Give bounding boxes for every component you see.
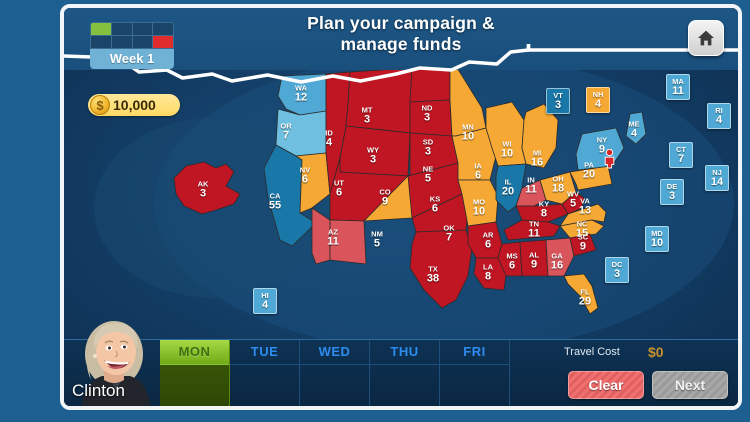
box-state-de[interactable]: DE3 xyxy=(660,179,684,205)
state-electoral-votes: 4 xyxy=(262,300,268,311)
box-state-ri[interactable]: RI4 xyxy=(707,103,731,129)
next-button[interactable]: Next xyxy=(652,371,728,399)
game-frame: WA12OR7CA55NV6ID4MT3WY3UT6CO9AZ11NM5ND3S… xyxy=(60,4,742,410)
bottom-bar: MONTUEWEDTHUFRI Travel Cost $0 Clear Nex… xyxy=(64,339,738,406)
state-nm[interactable] xyxy=(330,220,366,264)
box-state-hi[interactable]: HI4 xyxy=(253,288,277,314)
state-nd[interactable] xyxy=(410,68,450,102)
travel-cost: Travel Cost $0 xyxy=(560,340,730,364)
day-column-wed[interactable]: WED xyxy=(300,340,370,406)
home-button[interactable] xyxy=(688,20,724,56)
week-widget[interactable]: Week 1 xyxy=(90,22,174,69)
day-label-mon[interactable]: MON xyxy=(160,340,229,365)
funds-amount: 10,000 xyxy=(113,97,156,113)
state-electoral-votes: 7 xyxy=(678,154,684,165)
box-state-md[interactable]: MD10 xyxy=(645,226,669,252)
candidate-name: Clinton xyxy=(72,381,125,401)
travel-cost-value: $0 xyxy=(648,340,664,364)
day-slot-thu[interactable] xyxy=(370,365,439,406)
week-cell-7 xyxy=(133,36,153,48)
state-electoral-votes: 10 xyxy=(651,238,663,249)
week-grid xyxy=(90,22,174,49)
coin-icon: $ xyxy=(90,95,110,115)
day-slot-mon[interactable] xyxy=(160,365,229,406)
clear-button[interactable]: Clear xyxy=(568,371,644,399)
state-electoral-votes: 3 xyxy=(669,191,675,202)
state-ar[interactable] xyxy=(468,222,502,258)
state-electoral-votes: 4 xyxy=(716,115,722,126)
box-state-ct[interactable]: CT7 xyxy=(669,142,693,168)
day-column-mon[interactable]: MON xyxy=(160,340,230,406)
home-icon xyxy=(697,29,715,47)
day-label-fri[interactable]: FRI xyxy=(440,340,509,365)
week-cell-1 xyxy=(91,23,111,35)
day-slot-tue[interactable] xyxy=(230,365,299,406)
state-wy[interactable] xyxy=(340,126,410,176)
state-electoral-votes: 11 xyxy=(672,86,684,97)
week-cell-3 xyxy=(133,23,153,35)
box-state-nj[interactable]: NJ14 xyxy=(705,165,729,191)
state-electoral-votes: 3 xyxy=(555,100,561,111)
box-state-ma[interactable]: MA11 xyxy=(666,74,690,100)
candidate-portrait[interactable]: Clinton xyxy=(64,314,160,406)
week-cell-4 xyxy=(153,23,173,35)
week-cell-2 xyxy=(112,23,132,35)
state-mt[interactable] xyxy=(346,68,412,133)
day-label-wed[interactable]: WED xyxy=(300,340,369,365)
state-electoral-votes: 4 xyxy=(595,99,601,110)
funds-display: $ 10,000 xyxy=(88,94,180,116)
game-screen: WA12OR7CA55NV6ID4MT3WY3UT6CO9AZ11NM5ND3S… xyxy=(0,0,750,422)
state-sd[interactable] xyxy=(410,100,452,136)
day-column-thu[interactable]: THU xyxy=(370,340,440,406)
state-electoral-votes: 3 xyxy=(614,269,620,280)
day-slot-fri[interactable] xyxy=(440,365,509,406)
day-column-tue[interactable]: TUE xyxy=(230,340,300,406)
week-label: Week 1 xyxy=(90,49,174,69)
day-slot-wed[interactable] xyxy=(300,365,369,406)
day-label-tue[interactable]: TUE xyxy=(230,340,299,365)
game-background: WA12OR7CA55NV6ID4MT3WY3UT6CO9AZ11NM5ND3S… xyxy=(64,8,738,406)
day-label-thu[interactable]: THU xyxy=(370,340,439,365)
state-electoral-votes: 14 xyxy=(711,177,723,188)
day-column-fri[interactable]: FRI xyxy=(440,340,510,406)
box-state-nh[interactable]: NH4 xyxy=(586,87,610,113)
week-cell-6 xyxy=(112,36,132,48)
week-cell-5 xyxy=(91,36,111,48)
state-al[interactable] xyxy=(520,240,548,276)
travel-cost-label: Travel Cost xyxy=(564,340,620,364)
week-cell-8 xyxy=(153,36,173,48)
box-state-dc[interactable]: DC3 xyxy=(605,257,629,283)
box-state-vt[interactable]: VT3 xyxy=(546,88,570,114)
